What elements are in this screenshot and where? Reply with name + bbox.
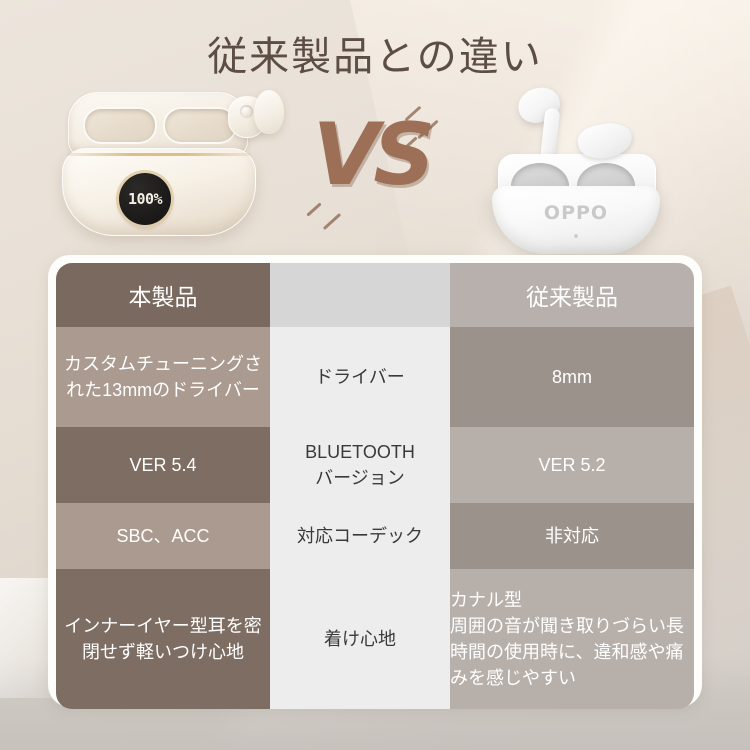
cell-theirs-fit: カナル型 周囲の音が聞き取りづらい長時間の使用時に、違和感や痛みを感じやすい [450, 569, 694, 709]
table-row: インナーイヤー型耳を密閉せず軽いつけ心地 着け心地 カナル型 周囲の音が聞き取り… [56, 569, 694, 709]
vs-label: VS [291, 96, 451, 214]
header-ours: 本製品 [56, 263, 270, 327]
cell-feature-codec: 対応コーデック [270, 503, 450, 569]
gold-trim-line [67, 153, 251, 156]
hero-product-comparison: 100% VS [0, 82, 750, 247]
cell-feature-driver: ドライバー [270, 327, 450, 427]
cell-ours-codec: SBC、ACC [56, 503, 270, 569]
feature-bluetooth-line2: バージョン [270, 465, 450, 491]
table-row: VER 5.4 BLUETOOTH バージョン VER 5.2 [56, 427, 694, 503]
infographic-canvas: 従来製品との違い 100% [0, 0, 750, 750]
right-case-body: OPPO [492, 186, 660, 254]
battery-percentage: 100% [128, 190, 162, 208]
left-case-body: 100% [62, 148, 256, 236]
table-header-row: 本製品 従来製品 [56, 263, 694, 327]
comparison-table-frame: 本製品 従来製品 カスタムチューニングされた13mmのドライバー ドライバー 8… [48, 255, 702, 707]
cell-ours-driver: カスタムチューニングされた13mmのドライバー [56, 327, 270, 427]
cell-feature-bluetooth: BLUETOOTH バージョン [270, 427, 450, 503]
cell-feature-fit: 着け心地 [270, 569, 450, 709]
earbud-tip [254, 90, 284, 134]
header-theirs: 従来製品 [450, 263, 694, 327]
table-row: SBC、ACC 対応コーデック 非対応 [56, 503, 694, 569]
header-feature [270, 263, 450, 327]
cell-theirs-codec: 非対応 [450, 503, 694, 569]
right-case-led [574, 234, 578, 238]
cell-ours-bluetooth: VER 5.4 [56, 427, 270, 503]
comparison-table: 本製品 従来製品 カスタムチューニングされた13mmのドライバー ドライバー 8… [56, 263, 694, 709]
battery-display: 100% [119, 173, 171, 225]
left-product-image: 100% [60, 86, 275, 236]
vs-speed-line [323, 213, 341, 230]
left-case-lid [68, 92, 248, 156]
cell-theirs-driver: 8mm [450, 327, 694, 427]
vs-badge: VS [291, 96, 451, 228]
cell-ours-fit: インナーイヤー型耳を密閉せず軽いつけ心地 [56, 569, 270, 709]
cell-theirs-bluetooth: VER 5.2 [450, 427, 694, 503]
page-title: 従来製品との違い [0, 24, 750, 82]
brand-logo: OPPO [492, 202, 660, 224]
left-lid-slot-left [83, 107, 157, 144]
earbud-sensor-dot [240, 105, 253, 118]
table-row: カスタムチューニングされた13mmのドライバー ドライバー 8mm [56, 327, 694, 427]
feature-bluetooth-line1: BLUETOOTH [270, 439, 450, 465]
left-single-earbud [228, 88, 284, 146]
right-product-image: OPPO [492, 82, 662, 242]
left-lid-slot-right [163, 107, 237, 144]
